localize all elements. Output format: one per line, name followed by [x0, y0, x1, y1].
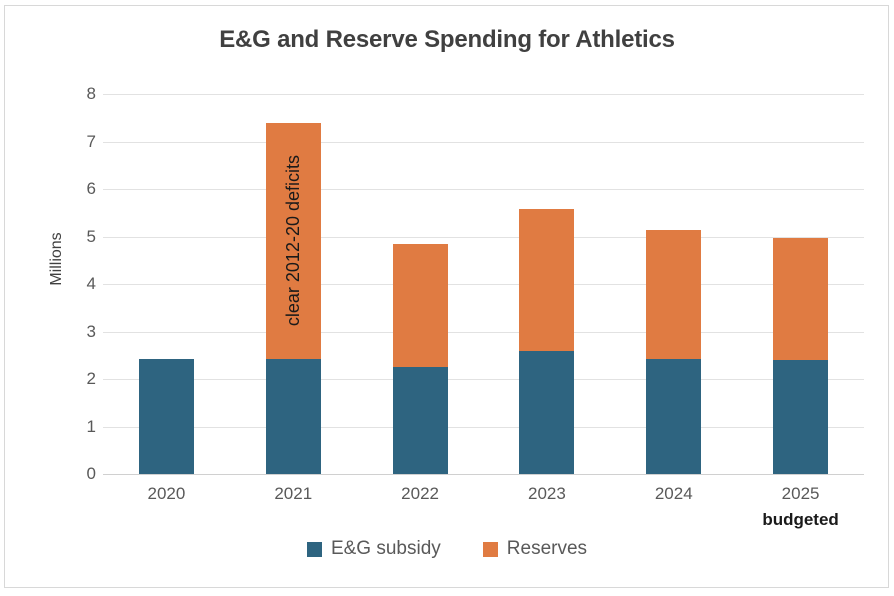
legend-swatch-icon — [307, 542, 322, 557]
x-tick-label-2021: 2021 — [230, 484, 357, 504]
bar-segment-2025-reserves[interactable] — [773, 238, 828, 360]
bar-group-2021[interactable]: clear 2012-20 deficits — [266, 94, 321, 474]
x-tick-label-2023: 2023 — [484, 484, 611, 504]
bar-segment-2020-e-g-subsidy[interactable] — [139, 359, 194, 474]
y-tick-label-1: 1 — [56, 417, 96, 437]
legend-item-reserves[interactable]: Reserves — [483, 538, 587, 560]
bar-segment-2023-e-g-subsidy[interactable] — [519, 351, 574, 474]
bar-segment-2022-reserves[interactable] — [393, 244, 448, 367]
x-tick-label-2024: 2024 — [610, 484, 737, 504]
y-tick-label-2: 2 — [56, 369, 96, 389]
chart-container: E&G and Reserve Spending for Athletics M… — [0, 0, 894, 596]
bar-segment-2025-e-g-subsidy[interactable] — [773, 360, 828, 474]
legend-item-e-g-subsidy[interactable]: E&G subsidy — [307, 538, 441, 560]
chart-legend: E&G subsidyReserves — [0, 538, 894, 560]
y-tick-label-3: 3 — [56, 322, 96, 342]
bar-segment-2023-reserves[interactable] — [519, 209, 574, 351]
bar-group-2025[interactable] — [773, 94, 828, 474]
y-tick-label-8: 8 — [56, 84, 96, 104]
bar-segment-2024-reserves[interactable] — [646, 230, 701, 359]
x-tick-label-2022: 2022 — [357, 484, 484, 504]
y-tick-label-5: 5 — [56, 227, 96, 247]
bar-annotation-2021: clear 2012-20 deficits — [266, 123, 321, 359]
chart-title: E&G and Reserve Spending for Athletics — [0, 26, 894, 54]
bar-segment-2021-reserves[interactable]: clear 2012-20 deficits — [266, 123, 321, 359]
y-tick-label-6: 6 — [56, 179, 96, 199]
x-tick-label-2025: 2025 — [737, 484, 864, 504]
bar-segment-2022-e-g-subsidy[interactable] — [393, 367, 448, 474]
y-tick-label-0: 0 — [56, 464, 96, 484]
bar-annotation-text: clear 2012-20 deficits — [283, 155, 304, 326]
y-tick-label-4: 4 — [56, 274, 96, 294]
bars-layer: clear 2012-20 deficits — [103, 94, 864, 474]
y-tick-label-7: 7 — [56, 132, 96, 152]
bar-group-2024[interactable] — [646, 94, 701, 474]
bar-segment-2021-e-g-subsidy[interactable] — [266, 359, 321, 474]
x-axis-tick-labels: 202020212022202320242025budgeted — [103, 484, 864, 544]
x-tick-sublabel-2025: budgeted — [737, 510, 864, 530]
legend-swatch-icon — [483, 542, 498, 557]
y-axis-tick-labels: 012345678 — [48, 94, 96, 474]
legend-label: Reserves — [507, 538, 587, 560]
gridline-0 — [103, 474, 864, 475]
bar-group-2020[interactable] — [139, 94, 194, 474]
bar-group-2023[interactable] — [519, 94, 574, 474]
legend-label: E&G subsidy — [331, 538, 441, 560]
bar-segment-2024-e-g-subsidy[interactable] — [646, 359, 701, 474]
bar-group-2022[interactable] — [393, 94, 448, 474]
x-tick-label-2020: 2020 — [103, 484, 230, 504]
